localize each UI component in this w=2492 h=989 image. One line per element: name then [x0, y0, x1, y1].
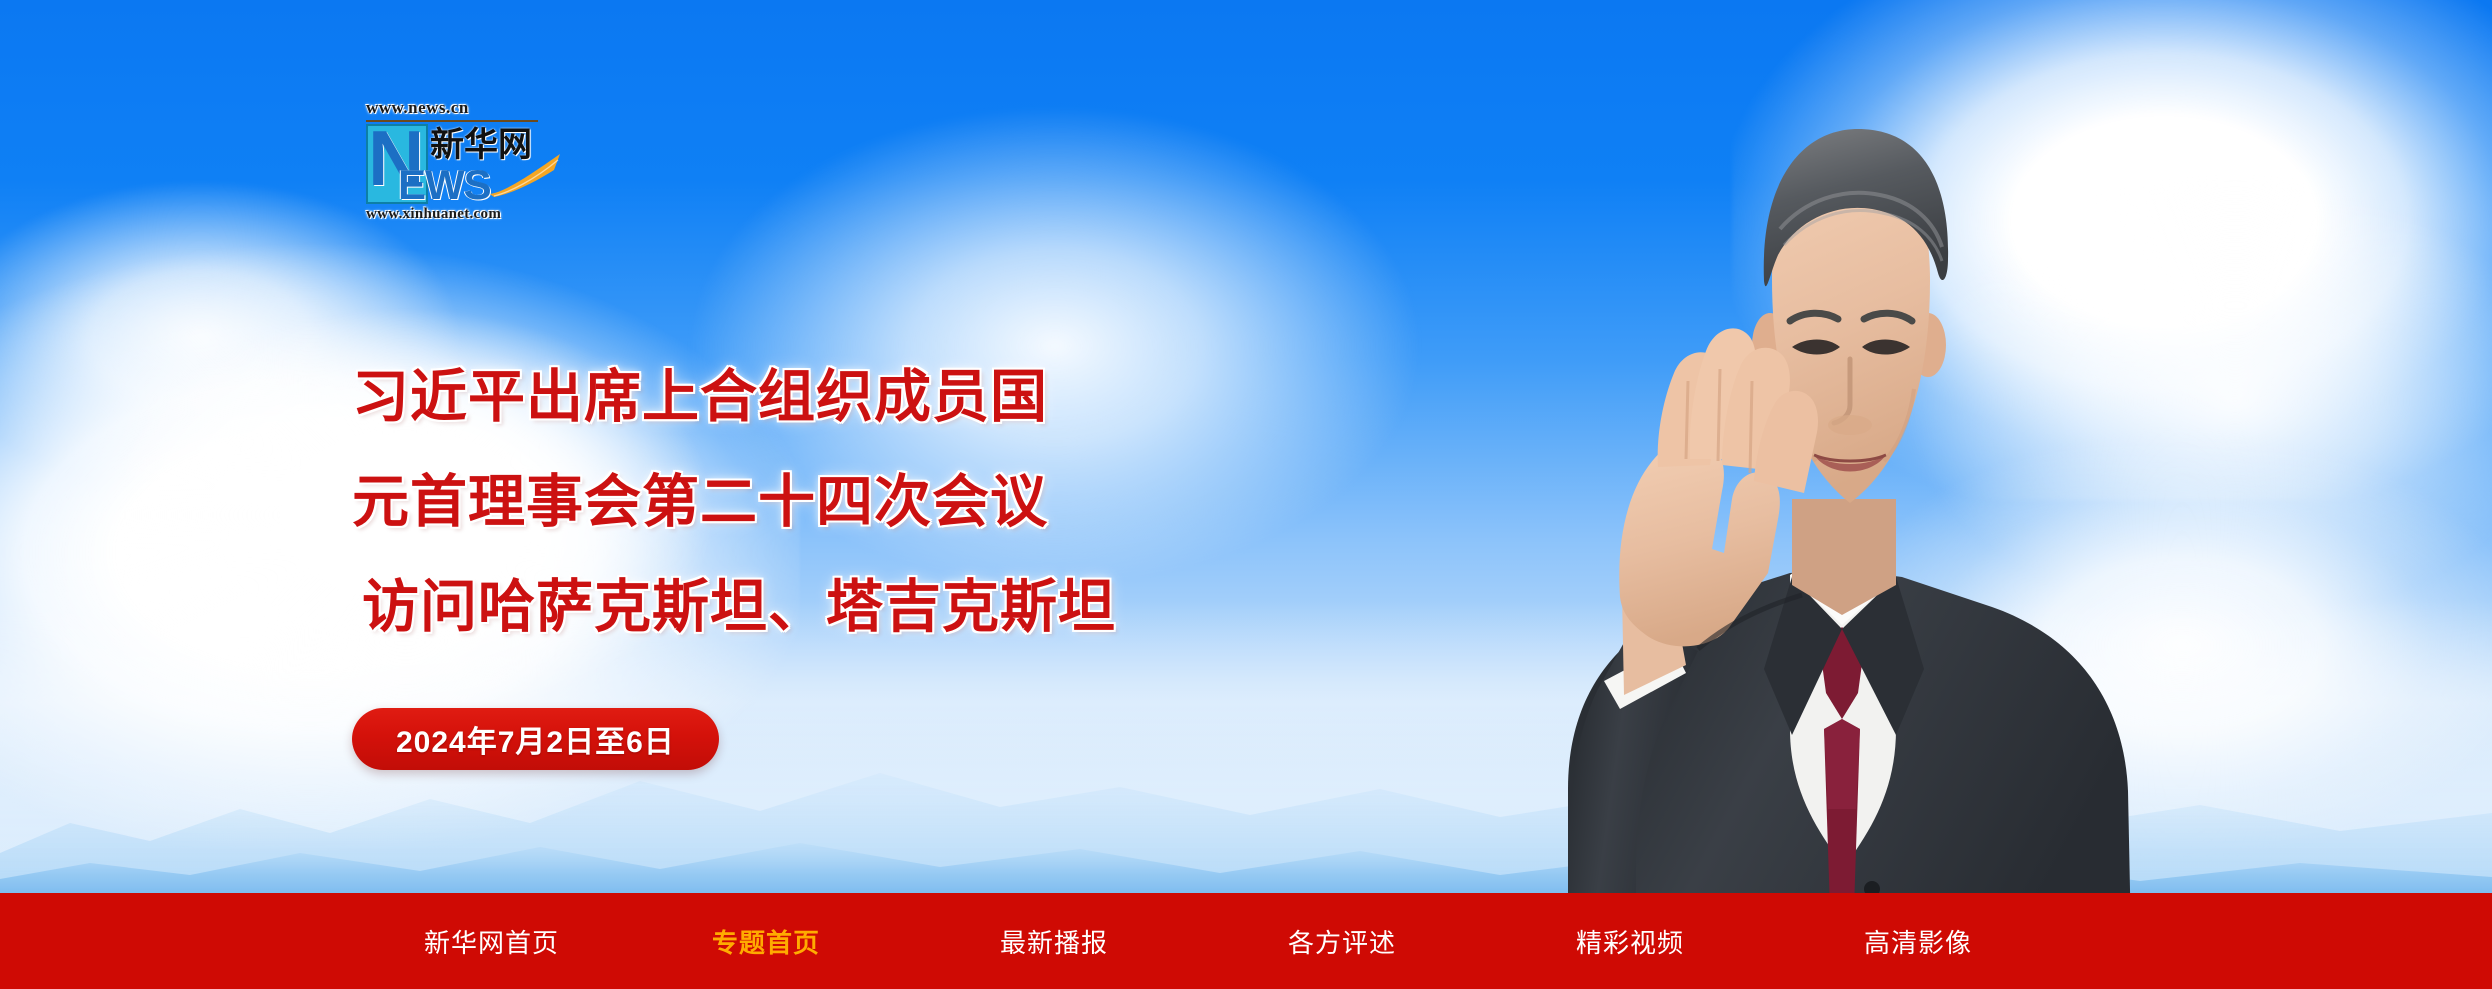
- headline-line-3: 访问哈萨克斯坦、塔吉克斯坦: [352, 555, 1412, 660]
- nav-item-latest-reports[interactable]: 最新播报: [1000, 923, 1288, 960]
- nav-item-videos[interactable]: 精彩视频: [1576, 923, 1864, 960]
- navigation-items: 新华网首页 专题首页 最新播报 各方评述 精彩视频 高清影像: [424, 923, 2152, 960]
- headline-line-1: 习近平出席上合组织成员国: [352, 345, 1412, 450]
- date-badge: 2024年7月2日至6日: [352, 708, 719, 770]
- logo-url-bottom: www.xinhuanet.com: [366, 206, 501, 223]
- navigation-bar: 新华网首页 专题首页 最新播报 各方评述 精彩视频 高清影像: [0, 893, 2492, 989]
- headline-line-2: 元首理事会第二十四次会议: [352, 450, 1412, 555]
- logo-letters-ews: EWS: [398, 164, 491, 206]
- xinhuanet-logo[interactable]: www.news.cn N 新华网 EWS www.xinhuanet.com: [352, 98, 552, 224]
- nav-item-commentary[interactable]: 各方评述: [1288, 923, 1576, 960]
- nav-item-xinhua-home[interactable]: 新华网首页: [424, 923, 712, 960]
- nav-item-topic-home[interactable]: 专题首页: [712, 923, 1000, 960]
- nav-item-hd-images[interactable]: 高清影像: [1864, 923, 2152, 960]
- news-special-topic-banner: www.news.cn N 新华网 EWS www.xinhuanet.com: [0, 0, 2492, 989]
- logo-swoosh-icon: [488, 152, 562, 198]
- headline-block: 习近平出席上合组织成员国 元首理事会第二十四次会议 访问哈萨克斯坦、塔吉克斯坦: [352, 345, 1412, 660]
- date-badge-label: 2024年7月2日至6日: [396, 717, 675, 761]
